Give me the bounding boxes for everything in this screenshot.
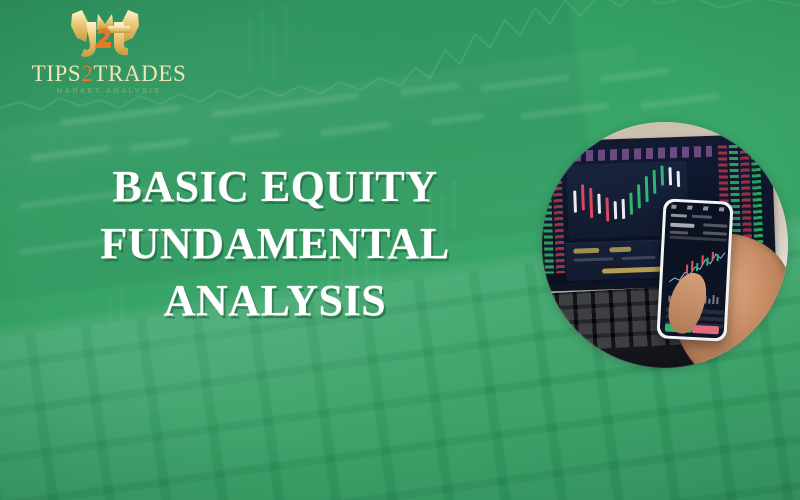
brand-wordmark: TIPS2TRADES <box>16 62 202 85</box>
title-line-3: ANALYSIS <box>40 272 510 329</box>
wordmark-prefix: TIPS <box>32 61 82 86</box>
brand-tagline: MARKET ANALYSIS <box>16 86 202 95</box>
page-title: BASIC EQUITY FUNDAMENTAL ANALYSIS <box>40 158 510 329</box>
j2t-bull-monogram-icon <box>62 8 148 64</box>
wordmark-suffix: TRADES <box>93 61 186 86</box>
wordmark-accent: 2 <box>81 61 93 86</box>
title-line-2: FUNDAMENTAL <box>40 215 510 272</box>
brand-logo[interactable]: TIPS2TRADES MARKET ANALYSIS <box>16 8 202 96</box>
hero-photo-circle <box>542 122 788 368</box>
title-line-1: BASIC EQUITY <box>40 158 510 215</box>
poster-canvas: TIPS2TRADES MARKET ANALYSIS BASIC EQUITY… <box>0 0 800 500</box>
photo-edge <box>542 122 788 368</box>
